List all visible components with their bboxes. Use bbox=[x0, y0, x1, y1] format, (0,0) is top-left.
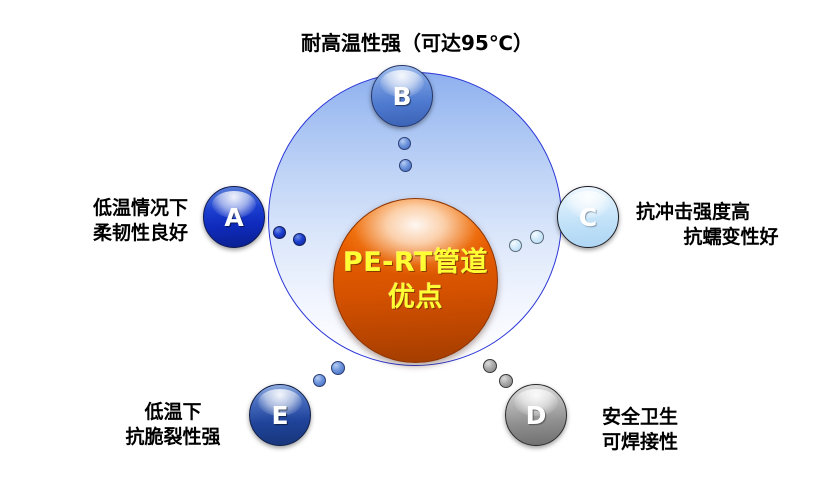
label-node-c-line-2: 抗蠕变性好 bbox=[636, 225, 826, 250]
label-node-b-line-1: 耐高温性强（可达95℃） bbox=[282, 30, 552, 56]
label-node-d-line-2: 可焊接性 bbox=[602, 430, 792, 455]
label-node-a: 低温情况下 柔韧性良好 bbox=[8, 196, 188, 246]
label-node-a-line-1: 低温情况下 bbox=[8, 196, 188, 221]
node-sphere-c[interactable]: C bbox=[557, 186, 619, 248]
center-title-line-1: PE-RT管道 bbox=[343, 246, 488, 281]
connector-dot-a-2 bbox=[293, 233, 306, 246]
label-node-a-line-2: 柔韧性良好 bbox=[8, 221, 188, 246]
label-node-e: 低温下 抗脆裂性强 bbox=[78, 400, 268, 450]
node-letter-e: E bbox=[271, 401, 288, 430]
connector-dot-b-2 bbox=[399, 159, 412, 172]
node-letter-b: B bbox=[392, 82, 411, 111]
node-letter-a: A bbox=[224, 203, 243, 232]
label-node-e-line-1: 低温下 bbox=[78, 400, 268, 425]
diagram-canvas: PE-RT管道 优点 A B C D E 耐高温性强（可达95℃） 低温情况下 … bbox=[0, 0, 834, 493]
label-node-c: 抗冲击强度高 抗蠕变性好 bbox=[636, 200, 826, 250]
label-node-d-line-1: 安全卫生 bbox=[602, 405, 792, 430]
connector-dot-c-1 bbox=[509, 239, 522, 252]
label-node-c-line-1: 抗冲击强度高 bbox=[636, 200, 826, 225]
connector-dot-b-1 bbox=[398, 137, 411, 150]
label-node-e-line-2: 抗脆裂性强 bbox=[78, 425, 268, 450]
center-title-line-2: 优点 bbox=[388, 281, 443, 316]
node-sphere-b[interactable]: B bbox=[371, 65, 433, 127]
connector-dot-d-2 bbox=[499, 374, 513, 388]
connector-dot-d-1 bbox=[483, 359, 497, 373]
node-sphere-a[interactable]: A bbox=[203, 186, 265, 248]
connector-dot-e-2 bbox=[331, 361, 345, 375]
center-sphere: PE-RT管道 优点 bbox=[333, 198, 498, 363]
label-node-d: 安全卫生 可焊接性 bbox=[602, 405, 792, 455]
label-node-b: 耐高温性强（可达95℃） bbox=[282, 30, 552, 56]
node-letter-c: C bbox=[579, 203, 597, 232]
connector-dot-c-2 bbox=[530, 230, 544, 244]
connector-dot-e-1 bbox=[313, 374, 326, 387]
node-sphere-d[interactable]: D bbox=[505, 384, 567, 446]
node-letter-d: D bbox=[526, 401, 547, 430]
connector-dot-a-1 bbox=[273, 226, 286, 239]
